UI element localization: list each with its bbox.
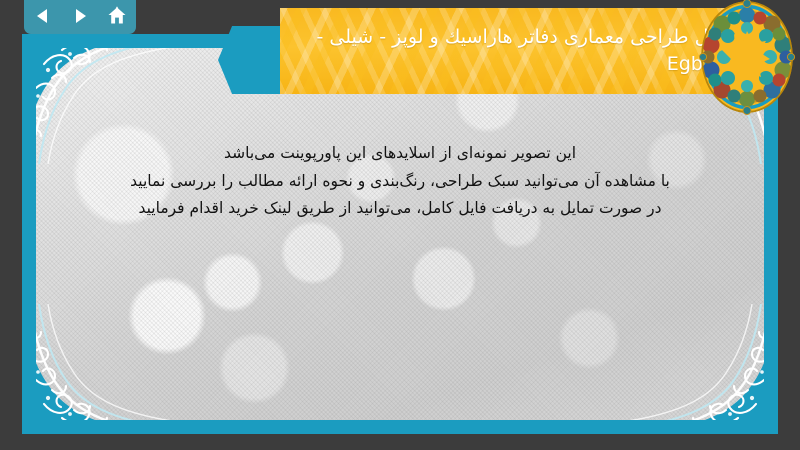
background-texture (36, 48, 764, 420)
triangle-right-icon (71, 7, 89, 25)
filigree-corner-ornament-bottom-left (36, 304, 172, 420)
back-button[interactable] (30, 3, 56, 29)
persian-medallion-ornament (694, 0, 800, 116)
slide-canvas: این تصویر نمونه‌ای از اسلایدهای این پاور… (36, 48, 764, 420)
body-line-3: در صورت تمایل به دریافت فایل کامل، می‌تو… (76, 201, 724, 217)
forward-button[interactable] (67, 3, 93, 29)
body-line-1: این تصویر نمونه‌ای از اسلایدهای این پاور… (76, 146, 724, 162)
home-icon (107, 6, 127, 26)
body-line-2: با مشاهده آن می‌توانید سبک طراحی، رنگ‌بن… (76, 174, 724, 190)
slide-viewer: این تصویر نمونه‌ای از اسلایدهای این پاور… (0, 0, 800, 450)
navigation-bar (24, 0, 136, 34)
slide-body-text: این تصویر نمونه‌ای از اسلایدهای این پاور… (76, 146, 724, 229)
triangle-left-icon (34, 7, 52, 25)
presentation-slide: این تصویر نمونه‌ای از اسلایدهای این پاور… (22, 34, 778, 434)
home-button[interactable] (104, 3, 130, 29)
filigree-corner-ornament-bottom-right (628, 304, 764, 420)
